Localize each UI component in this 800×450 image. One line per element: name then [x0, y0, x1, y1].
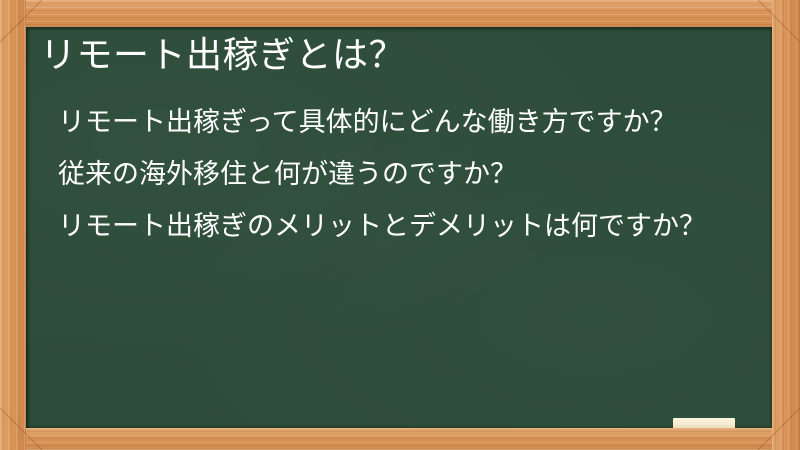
chalk-stick	[673, 418, 735, 428]
frame-rail-top	[0, 0, 800, 27]
frame-stile-left	[0, 0, 26, 450]
question-list: リモート出稼ぎって具体的にどんな働き方ですか？ 従来の海外移住と何が違うのですか…	[52, 103, 736, 245]
frame-rail-bottom	[0, 428, 800, 450]
question-item-3: リモート出稼ぎのメリットとデメリットは何ですか？	[52, 207, 736, 245]
slide-title: リモート出稼ぎとは？	[40, 33, 740, 76]
chalkboard-slide: リモート出稼ぎとは？ リモート出稼ぎって具体的にどんな働き方ですか？ 従来の海外…	[0, 0, 800, 450]
chalkboard-surface: リモート出稼ぎとは？ リモート出稼ぎって具体的にどんな働き方ですか？ 従来の海外…	[26, 27, 772, 428]
question-item-2: 従来の海外移住と何が違うのですか？	[52, 155, 736, 193]
frame-stile-right	[772, 0, 800, 450]
question-item-1: リモート出稼ぎって具体的にどんな働き方ですか？	[52, 103, 736, 141]
